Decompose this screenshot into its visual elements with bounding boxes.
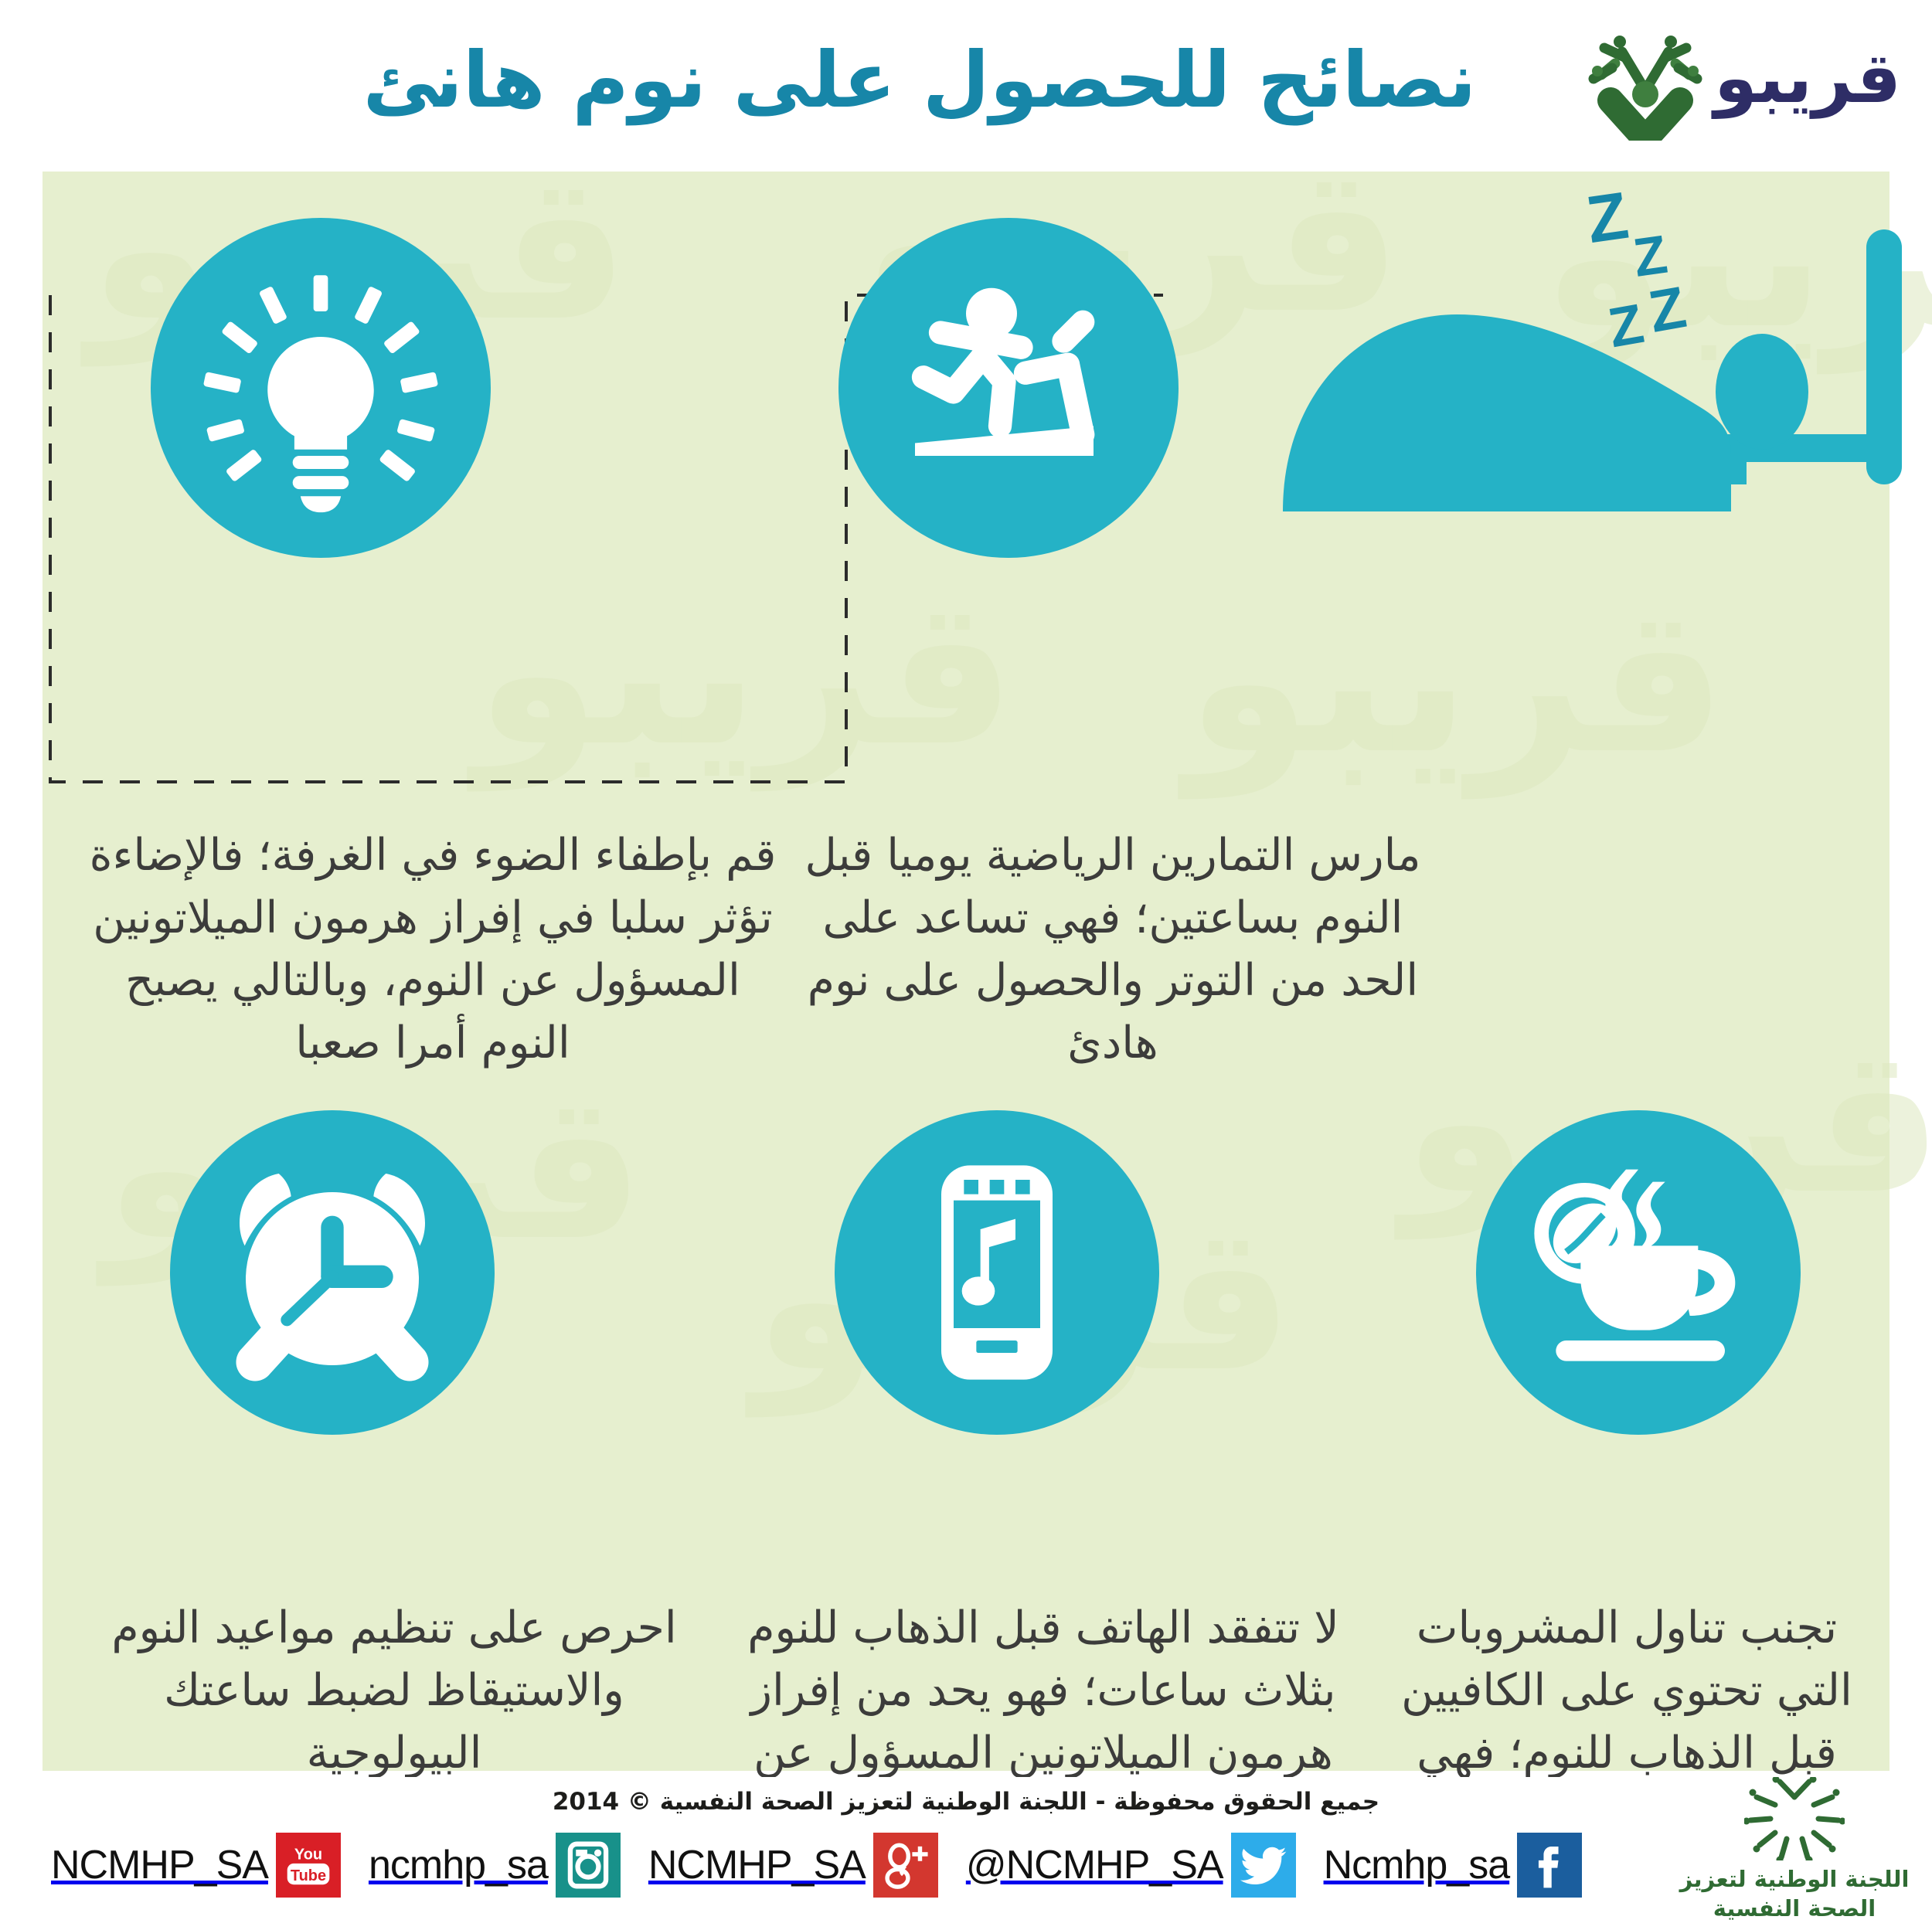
content-panel: قريبو قريبو قريبو قريبو قريبو قريبو قريب… [43,172,1889,1771]
zzz-letter: Z [1582,179,1632,257]
treadmill-runner-icon [881,260,1136,515]
social-link-googleplus[interactable]: NCMHP_SA [648,1833,938,1898]
svg-text:You: You [294,1847,322,1864]
social-link-facebook[interactable]: Ncmhp_sa [1324,1833,1583,1898]
watermark: قريبو [475,573,1015,774]
instagram-handle: ncmhp_sa [369,1842,548,1888]
footer: جميع الحقوق محفوظة - اللجنة الوطنية لتعز… [0,1777,1932,1930]
smartphone-music-icon [873,1149,1121,1396]
social-link-instagram[interactable]: ncmhp_sa [369,1833,621,1898]
infographic-page: نصائح للحصول على نوم هانئ قريبو [0,0,1932,1930]
social-links: Ncmhp_sa @NCMHP_SA [23,1833,1582,1898]
social-link-twitter[interactable]: @NCMHP_SA [966,1833,1296,1898]
zzz-letter: Z [1644,274,1690,345]
tip-icon-circle-light-off[interactable] [151,218,491,558]
zzz-letter: Z [1604,293,1648,359]
qaribo-people-icon [1587,17,1703,141]
brand-logo-qaribo: قريبو [1587,17,1901,141]
instagram-icon [556,1833,621,1898]
watermark: قريبو [1186,581,1726,782]
googleplus-handle: NCMHP_SA [648,1842,866,1888]
facebook-icon [1517,1833,1582,1898]
tip-text-light-off: قم بإطفاء الضوء في الغرفة؛ فالإضاءة تؤثر… [89,824,777,1075]
twitter-icon [1231,1833,1296,1898]
alarm-clock-icon [209,1149,456,1396]
tip-text-schedule: احرص على تنظيم مواعيد النوم والاستيقاظ ل… [89,1597,699,1785]
header: نصائح للحصول على نوم هانئ قريبو [0,0,1932,166]
ncmhp-starburst-icon [1744,1777,1845,1860]
twitter-handle: @NCMHP_SA [966,1842,1223,1888]
youtube-handle: NCMHP_SA [51,1842,268,1888]
tip-icon-circle-no-phone[interactable] [835,1110,1159,1435]
svg-text:Tube: Tube [291,1867,326,1884]
social-link-youtube[interactable]: You Tube NCMHP_SA [51,1833,341,1898]
tip-icon-circle-exercise[interactable] [838,218,1179,558]
ncmhp-name-line1: اللجنة الوطنية لتعزيز [1679,1865,1910,1893]
brand-wordmark: قريبو [1714,44,1901,114]
tip-icon-circle-no-caffeine[interactable] [1476,1110,1801,1435]
copyright-text: جميع الحقوق محفوظة - اللجنة الوطنية لتعز… [0,1788,1932,1816]
sleeping-person-illustration: Z Z Z Z [1267,179,1932,542]
page-title: نصائح للحصول على نوم هانئ [294,36,1546,124]
ncmhp-logo: اللجنة الوطنية لتعزيز الصحة النفسية [1679,1777,1910,1923]
googleplus-icon [873,1833,938,1898]
facebook-handle: Ncmhp_sa [1324,1842,1510,1888]
tip-icon-circle-schedule[interactable] [170,1110,495,1435]
ncmhp-name-line2: الصحة النفسية [1679,1894,1910,1922]
coffee-cup-icon [1515,1149,1762,1396]
lightbulb-icon [193,260,448,515]
youtube-icon: You Tube [276,1833,341,1898]
tip-text-exercise: مارس التمارين الرياضية يوميا قبل النوم ب… [800,824,1426,1075]
